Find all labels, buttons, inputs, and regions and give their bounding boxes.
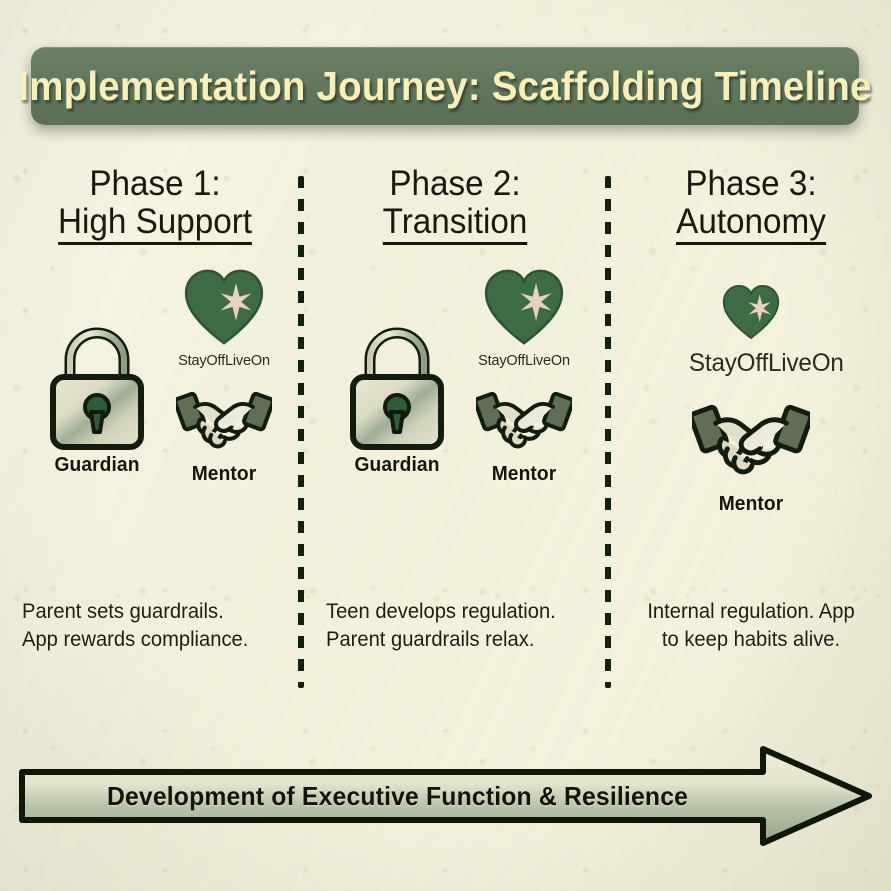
phase-heading-line1: Phase 3: xyxy=(685,164,816,203)
guardian-label: Guardian xyxy=(340,454,453,477)
phase-icons-3: StayOffLiveOn Mentor xyxy=(608,261,891,531)
brand-icon-block-2: StayOffLiveOn xyxy=(460,267,588,369)
heart-sparkle-icon xyxy=(181,267,267,347)
guardian-icon-block-1: Guardian xyxy=(38,319,156,477)
description-line: Teen develops regulation. xyxy=(326,598,585,626)
brand-icon-block-1: StayOffLiveOn xyxy=(160,267,288,369)
heart-sparkle-icon xyxy=(720,283,782,341)
phase-icons-2: Guardian StayOffLiveOn xyxy=(312,261,598,531)
phase-heading-line1: Phase 2: xyxy=(389,164,520,203)
description-line: Parent guardrails relax. xyxy=(326,626,585,654)
mentor-label-3: Mentor xyxy=(691,493,810,516)
mentor-icon-block-3: Mentor xyxy=(689,389,813,516)
phase-divider-1 xyxy=(298,176,304,688)
phase-column-3: Phase 3: Autonomy StayOffLiveOn xyxy=(608,165,891,531)
progress-arrow: Development of Executive Function & Resi… xyxy=(18,744,873,848)
phase-heading-line2: Transition xyxy=(383,203,528,245)
brand-label-1: StayOffLiveOn xyxy=(162,352,286,369)
handshake-icon xyxy=(476,379,572,457)
mentor-label-1: Mentor xyxy=(164,463,283,486)
phase-description-3: Internal regulation. App to keep habits … xyxy=(625,598,877,653)
padlock-icon xyxy=(343,319,451,454)
description-line: Parent sets guardrails. xyxy=(22,598,281,626)
phase-heading-3: Phase 3: Autonomy xyxy=(615,165,887,245)
heart-sparkle-icon xyxy=(481,267,567,347)
phase-description-2: Teen develops regulation. Parent guardra… xyxy=(326,598,585,653)
mentor-label-2: Mentor xyxy=(464,463,583,486)
right-arrow-banner xyxy=(18,744,873,848)
brand-label-2: StayOffLiveOn xyxy=(462,352,586,369)
phase-icons-1: Guardian StayOffLiveOn xyxy=(12,261,298,531)
page-title: Implementation Journey: Scaffolding Time… xyxy=(18,63,871,110)
description-line: Internal regulation. App xyxy=(625,598,877,626)
phase-heading-2: Phase 2: Transition xyxy=(319,165,591,245)
phase-column-2: Phase 2: Transition xyxy=(312,165,598,531)
title-banner: Implementation Journey: Scaffolding Time… xyxy=(31,47,859,125)
guardian-label: Guardian xyxy=(40,454,153,477)
description-line: App rewards compliance. xyxy=(22,626,281,654)
brand-icon-block-3: StayOffLiveOn xyxy=(687,283,815,378)
phase-heading-line2: High Support xyxy=(58,203,252,245)
mentor-icon-block-2: Mentor xyxy=(462,379,586,486)
padlock-icon xyxy=(43,319,151,454)
handshake-icon xyxy=(692,389,810,485)
phase-description-1: Parent sets guardrails. App rewards comp… xyxy=(22,598,281,653)
phase-heading-1: Phase 1: High Support xyxy=(19,165,291,245)
description-line: to keep habits alive. xyxy=(625,626,877,654)
phase-heading-line1: Phase 1: xyxy=(89,164,220,203)
mentor-icon-block-1: Mentor xyxy=(162,379,286,486)
guardian-icon-block-2: Guardian xyxy=(338,319,456,477)
phase-heading-line2: Autonomy xyxy=(676,203,826,245)
brand-label-3: StayOffLiveOn xyxy=(689,349,813,378)
phase-column-1: Phase 1: High Support xyxy=(12,165,298,531)
handshake-icon xyxy=(176,379,272,457)
